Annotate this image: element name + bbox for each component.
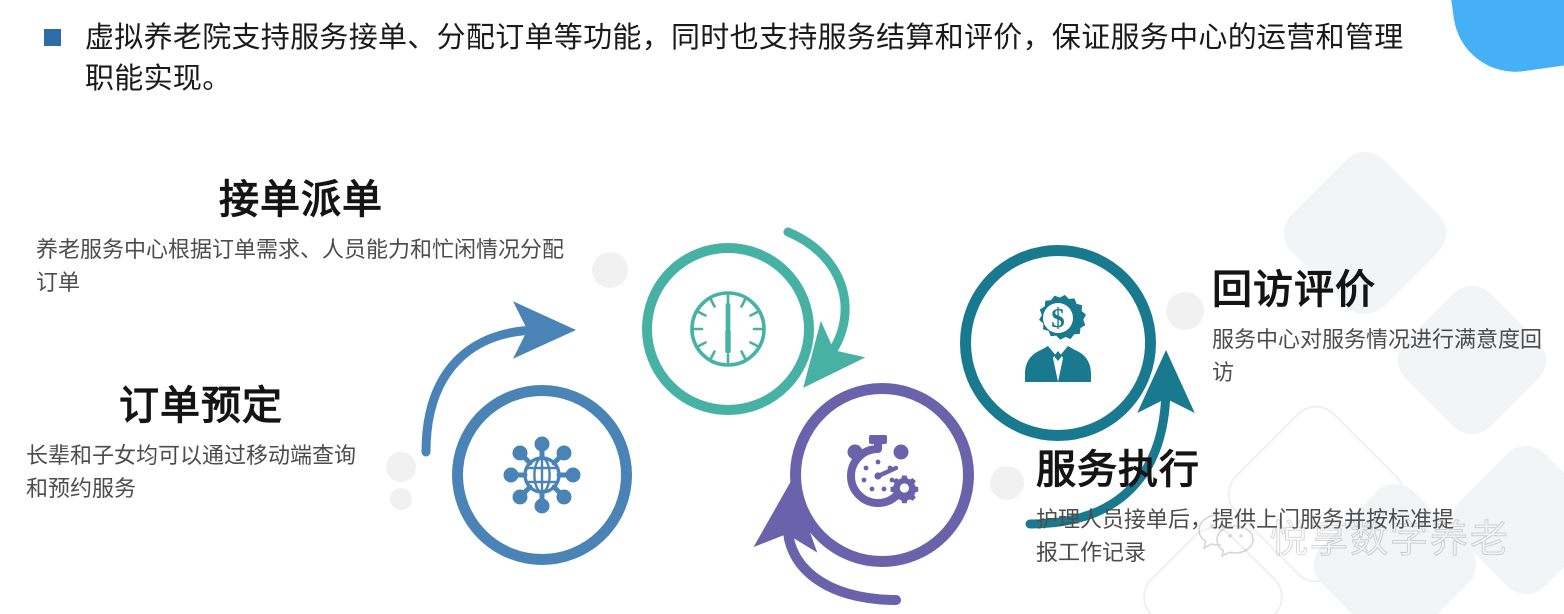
corner-blob-shape <box>1443 0 1564 80</box>
svg-text:$: $ <box>1051 303 1065 333</box>
soft-circle-5 <box>390 488 412 510</box>
soft-circle-1 <box>592 252 628 288</box>
step-node-dispatch[interactable] <box>642 243 814 415</box>
stopwatch-gear-icon <box>801 394 963 556</box>
header-bullet-row: 虚拟养老院支持服务接单、分配订单等功能，同时也支持服务结算和评价，保证服务中心的… <box>44 18 1405 100</box>
clock-icon <box>652 253 804 405</box>
soft-circle-3 <box>990 466 1024 500</box>
step-label-order: 订单预定 长辈和子女均可以通过移动端查询和预约服务 <box>26 384 376 505</box>
step-label-dispatch: 接单派单 养老服务中心根据订单需求、人员能力和忙闲情况分配订单 <box>36 178 566 299</box>
step-node-order[interactable] <box>452 385 632 565</box>
step-desc-dispatch: 养老服务中心根据订单需求、人员能力和忙闲情况分配订单 <box>36 233 566 299</box>
bullet-square-icon <box>44 29 61 46</box>
globe-network-icon <box>463 396 621 554</box>
soft-circle-2 <box>386 452 416 482</box>
step-desc-execute: 护理人员接单后，提供上门服务并按标准提报工作记录 <box>1036 503 1466 569</box>
step-desc-order: 长辈和子女均可以通过移动端查询和预约服务 <box>26 439 376 505</box>
slide-canvas: 虚拟养老院支持服务接单、分配订单等功能，同时也支持服务结算和评价，保证服务中心的… <box>0 0 1564 614</box>
step-label-execute: 服务执行 护理人员接单后，提供上门服务并按标准提报工作记录 <box>1036 448 1466 569</box>
step-title-order: 订单预定 <box>26 384 376 428</box>
step-title-dispatch: 接单派单 <box>36 178 566 222</box>
businessman-gear-dollar-icon: $ <box>971 256 1145 430</box>
step-label-review: 回访评价 服务中心对服务情况进行满意度回访 <box>1212 268 1552 389</box>
step-node-execute[interactable] <box>790 383 974 567</box>
step-title-execute: 服务执行 <box>1036 448 1466 492</box>
soft-circle-4 <box>1166 292 1204 330</box>
step-title-review: 回访评价 <box>1212 268 1552 312</box>
header-text: 虚拟养老院支持服务接单、分配订单等功能，同时也支持服务结算和评价，保证服务中心的… <box>85 18 1405 100</box>
step-node-review[interactable]: $ <box>960 245 1156 441</box>
step-desc-review: 服务中心对服务情况进行满意度回访 <box>1212 323 1552 389</box>
